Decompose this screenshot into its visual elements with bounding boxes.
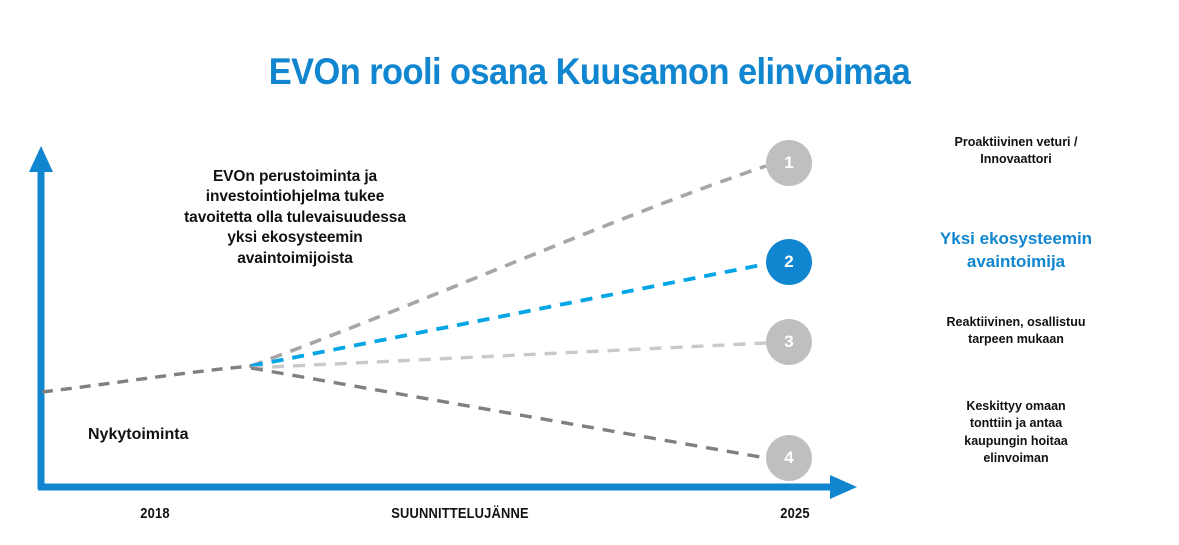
axis-label-end: 2025 xyxy=(748,505,843,522)
scenario-line-3 xyxy=(251,343,766,368)
centre-annotation: EVOn perustoiminta ja investointiohjelma… xyxy=(140,167,450,269)
y-axis-arrowhead xyxy=(29,146,53,172)
scenario-description-4: Keskittyy omaan tonttiin ja antaa kaupun… xyxy=(888,398,1144,467)
scenario-description-3: Reaktiivinen, osallistuu tarpeen mukaan xyxy=(888,314,1144,349)
node-circle-2[interactable] xyxy=(766,239,812,285)
slide-canvas: EVOn rooli osana Kuusamon elinvoimaa 1 2… xyxy=(0,0,1179,545)
scenario-description-2: Yksi ekosysteemin avaintoimija xyxy=(888,228,1144,274)
scenario-line-2 xyxy=(251,264,766,366)
scenario-description-1: Proaktiivinen veturi / Innovaattori xyxy=(888,134,1144,169)
axis-label-middle: SUUNNITTELUJÄNNE xyxy=(348,505,572,522)
axis-label-start: 2018 xyxy=(108,505,203,522)
baseline-path xyxy=(42,366,251,392)
node-circle-4[interactable] xyxy=(766,435,812,481)
x-axis-arrowhead xyxy=(830,475,857,499)
node-circle-1[interactable] xyxy=(766,140,812,186)
node-circle-3[interactable] xyxy=(766,319,812,365)
scenario-line-4 xyxy=(251,368,766,458)
baseline-label: Nykytoiminta xyxy=(60,424,318,445)
